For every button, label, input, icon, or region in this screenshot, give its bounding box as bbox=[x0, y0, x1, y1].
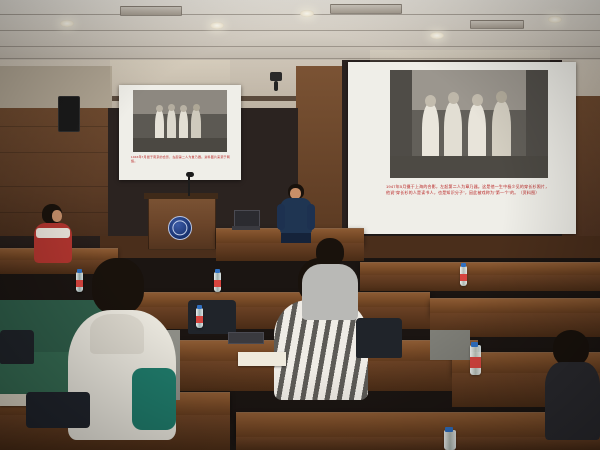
historical-group-photograph bbox=[390, 70, 548, 178]
shoulder-bag bbox=[26, 392, 90, 428]
ceiling-grid-line bbox=[0, 46, 600, 47]
scarf bbox=[132, 368, 176, 430]
ceiling-downlight bbox=[300, 10, 314, 17]
secondary-slide: 1946年7月摄于南京的合影，左起第二人为章乃器。资料图片来源于网络。 bbox=[119, 85, 241, 180]
microphone-icon bbox=[188, 176, 190, 196]
open-notebook bbox=[238, 352, 286, 366]
camera-icon bbox=[270, 72, 282, 81]
ceiling-vent bbox=[470, 20, 524, 29]
ceiling-grid-line bbox=[0, 58, 600, 59]
microphone-head-icon bbox=[186, 172, 194, 177]
desk-row-back-right-front bbox=[360, 275, 600, 291]
closed-laptop bbox=[228, 332, 262, 344]
water-bottle bbox=[76, 272, 83, 292]
wall-panel bbox=[0, 66, 112, 114]
lectern-top bbox=[144, 193, 218, 199]
chair-back bbox=[356, 318, 402, 358]
historical-group-photograph bbox=[133, 90, 227, 152]
presenter-laptop bbox=[232, 210, 260, 230]
water-bottle bbox=[444, 430, 456, 450]
water-bottle bbox=[470, 345, 481, 375]
ceiling-downlight bbox=[210, 22, 224, 29]
ceiling-downlight bbox=[430, 32, 444, 39]
attendee-grey-shirt bbox=[300, 238, 360, 318]
ceiling-downlight bbox=[548, 16, 562, 23]
presenter bbox=[276, 184, 316, 246]
university-emblem bbox=[168, 216, 192, 240]
speaker-icon bbox=[58, 96, 80, 132]
secondary-projection-screen: 1946年7月摄于南京的合影，左起第二人为章乃器。资料图片来源于网络。 bbox=[119, 85, 241, 180]
ceiling-vent bbox=[120, 6, 182, 16]
ceiling-grid-line bbox=[0, 30, 600, 31]
attendee-back-right bbox=[545, 330, 600, 440]
water-bottle bbox=[214, 272, 221, 292]
main-slide-caption: 1947年5月摄于上海的合影，左起第二人为章乃器。这是他一生中极少见的穿长衫照片… bbox=[386, 184, 552, 220]
ceiling-downlight bbox=[60, 20, 74, 27]
main-slide: 1947年5月摄于上海的合影，左起第二人为章乃器。这是他一生中极少见的穿长衫照片… bbox=[348, 62, 576, 234]
ceiling-vent bbox=[330, 4, 402, 14]
main-projection-screen: 1947年5月摄于上海的合影，左起第二人为章乃器。这是他一生中极少见的穿长衫照片… bbox=[348, 62, 576, 234]
camera-mount-icon bbox=[274, 81, 278, 91]
suspended-ceiling bbox=[0, 0, 600, 62]
lecture-hall-photo: 1946年7月摄于南京的合影，左起第二人为章乃器。资料图片来源于网络。 bbox=[0, 0, 600, 450]
water-bottle bbox=[460, 266, 467, 286]
floor-patch bbox=[430, 330, 470, 360]
water-bottle bbox=[196, 308, 203, 328]
chair-back bbox=[0, 330, 34, 364]
secondary-slide-caption: 1946年7月摄于南京的合影，左起第二人为章乃器。资料图片来源于网络。 bbox=[131, 155, 231, 177]
